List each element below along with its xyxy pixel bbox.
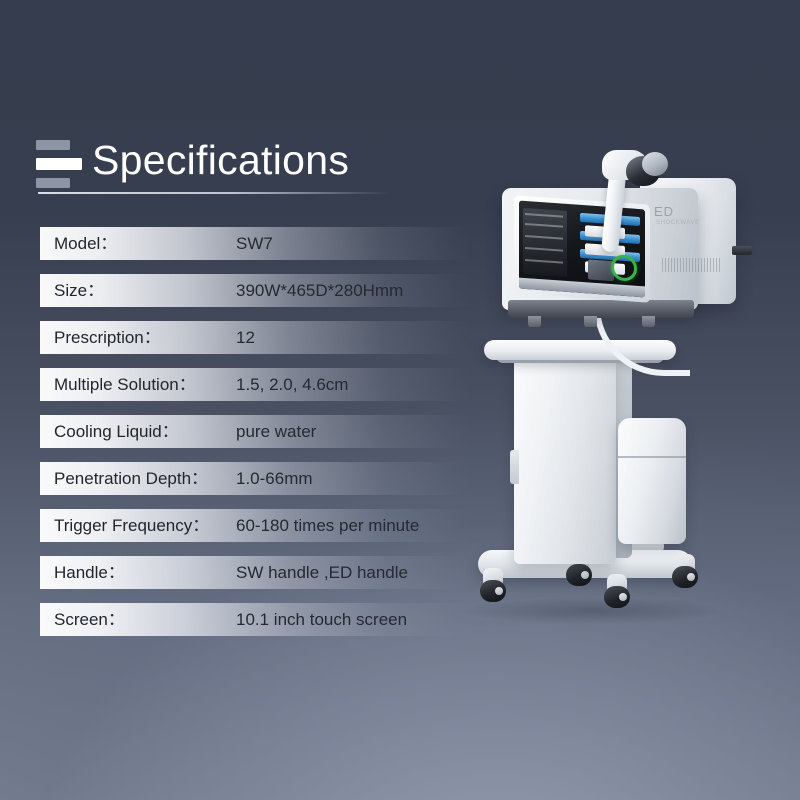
- cart-column: [514, 358, 616, 564]
- spec-value: 12: [236, 321, 255, 354]
- spec-value: SW handle ,ED handle: [236, 556, 408, 589]
- vent-grille-icon: [662, 258, 720, 272]
- caster-hub: [619, 593, 627, 601]
- machine-foot: [642, 316, 655, 327]
- spec-label: Prescription：: [54, 321, 161, 354]
- stacked-bar-middle: [36, 158, 82, 170]
- page-header: Specifications: [36, 132, 456, 204]
- screen-side-panel: [523, 208, 567, 277]
- machine-foot: [528, 316, 541, 327]
- caster-wheel: [604, 574, 630, 608]
- table-row: Cooling Liquid： pure water: [40, 415, 470, 448]
- table-row: Multiple Solution： 1.5, 2.0, 4.6cm: [40, 368, 470, 401]
- page-title: Specifications: [92, 132, 349, 188]
- table-row: Handle： SW handle ,ED handle: [40, 556, 470, 589]
- spec-value: pure water: [236, 415, 316, 448]
- spec-value: 390W*465D*280Hmm: [236, 274, 403, 307]
- stacked-bar-top: [36, 140, 70, 150]
- table-row: Penetration Depth： 1.0-66mm: [40, 462, 470, 495]
- caster-wheel: [480, 568, 506, 602]
- touch-screen[interactable]: [519, 201, 645, 298]
- caster-hub: [687, 573, 695, 581]
- spec-label: Cooling Liquid：: [54, 415, 179, 448]
- power-cable: [732, 246, 752, 255]
- table-row: Screen： 10.1 inch touch screen: [40, 603, 470, 636]
- caster-hub: [495, 587, 503, 595]
- spec-label: Penetration Depth：: [54, 462, 208, 495]
- screen-bezel: [514, 195, 650, 303]
- stacked-bar-bottom: [36, 178, 70, 188]
- spec-value: 1.5, 2.0, 4.6cm: [236, 368, 348, 401]
- cart-latch: [510, 450, 519, 484]
- specifications-page: Specifications Model： SW7 Size： 390W*465…: [0, 0, 800, 800]
- spec-value: 1.0-66mm: [236, 462, 313, 495]
- brand-sublabel: SHOCKWAVE: [656, 220, 700, 226]
- screen-thumbnail[interactable]: [588, 259, 614, 281]
- spec-label: Screen：: [54, 603, 125, 636]
- table-row: Model： SW7: [40, 227, 470, 260]
- spec-label: Multiple Solution：: [54, 368, 196, 401]
- spec-label: Model：: [54, 227, 117, 260]
- product-image: ED SHOCKWAVE: [466, 150, 796, 680]
- title-underline: [38, 192, 390, 194]
- brand-label: ED: [654, 204, 674, 219]
- cart-storage-bin: [618, 418, 686, 544]
- spec-value: 60-180 times per minute: [236, 509, 419, 542]
- caster-hub: [581, 571, 589, 579]
- spec-label: Trigger Frequency：: [54, 509, 209, 542]
- spec-label: Size：: [54, 274, 104, 307]
- table-row: Trigger Frequency： 60-180 times per minu…: [40, 509, 470, 542]
- probe-ring: [642, 152, 668, 176]
- spec-value: SW7: [236, 227, 273, 260]
- specifications-table: Model： SW7 Size： 390W*465D*280Hmm Prescr…: [40, 227, 470, 650]
- spec-value: 10.1 inch touch screen: [236, 603, 407, 636]
- caster-wheel: [672, 554, 698, 588]
- table-row: Size： 390W*465D*280Hmm: [40, 274, 470, 307]
- table-row: Prescription： 12: [40, 321, 470, 354]
- stacked-bars-icon: [36, 140, 82, 192]
- machine-foot: [584, 316, 597, 327]
- cart-bin-seam: [618, 456, 686, 458]
- spec-label: Handle：: [54, 556, 125, 589]
